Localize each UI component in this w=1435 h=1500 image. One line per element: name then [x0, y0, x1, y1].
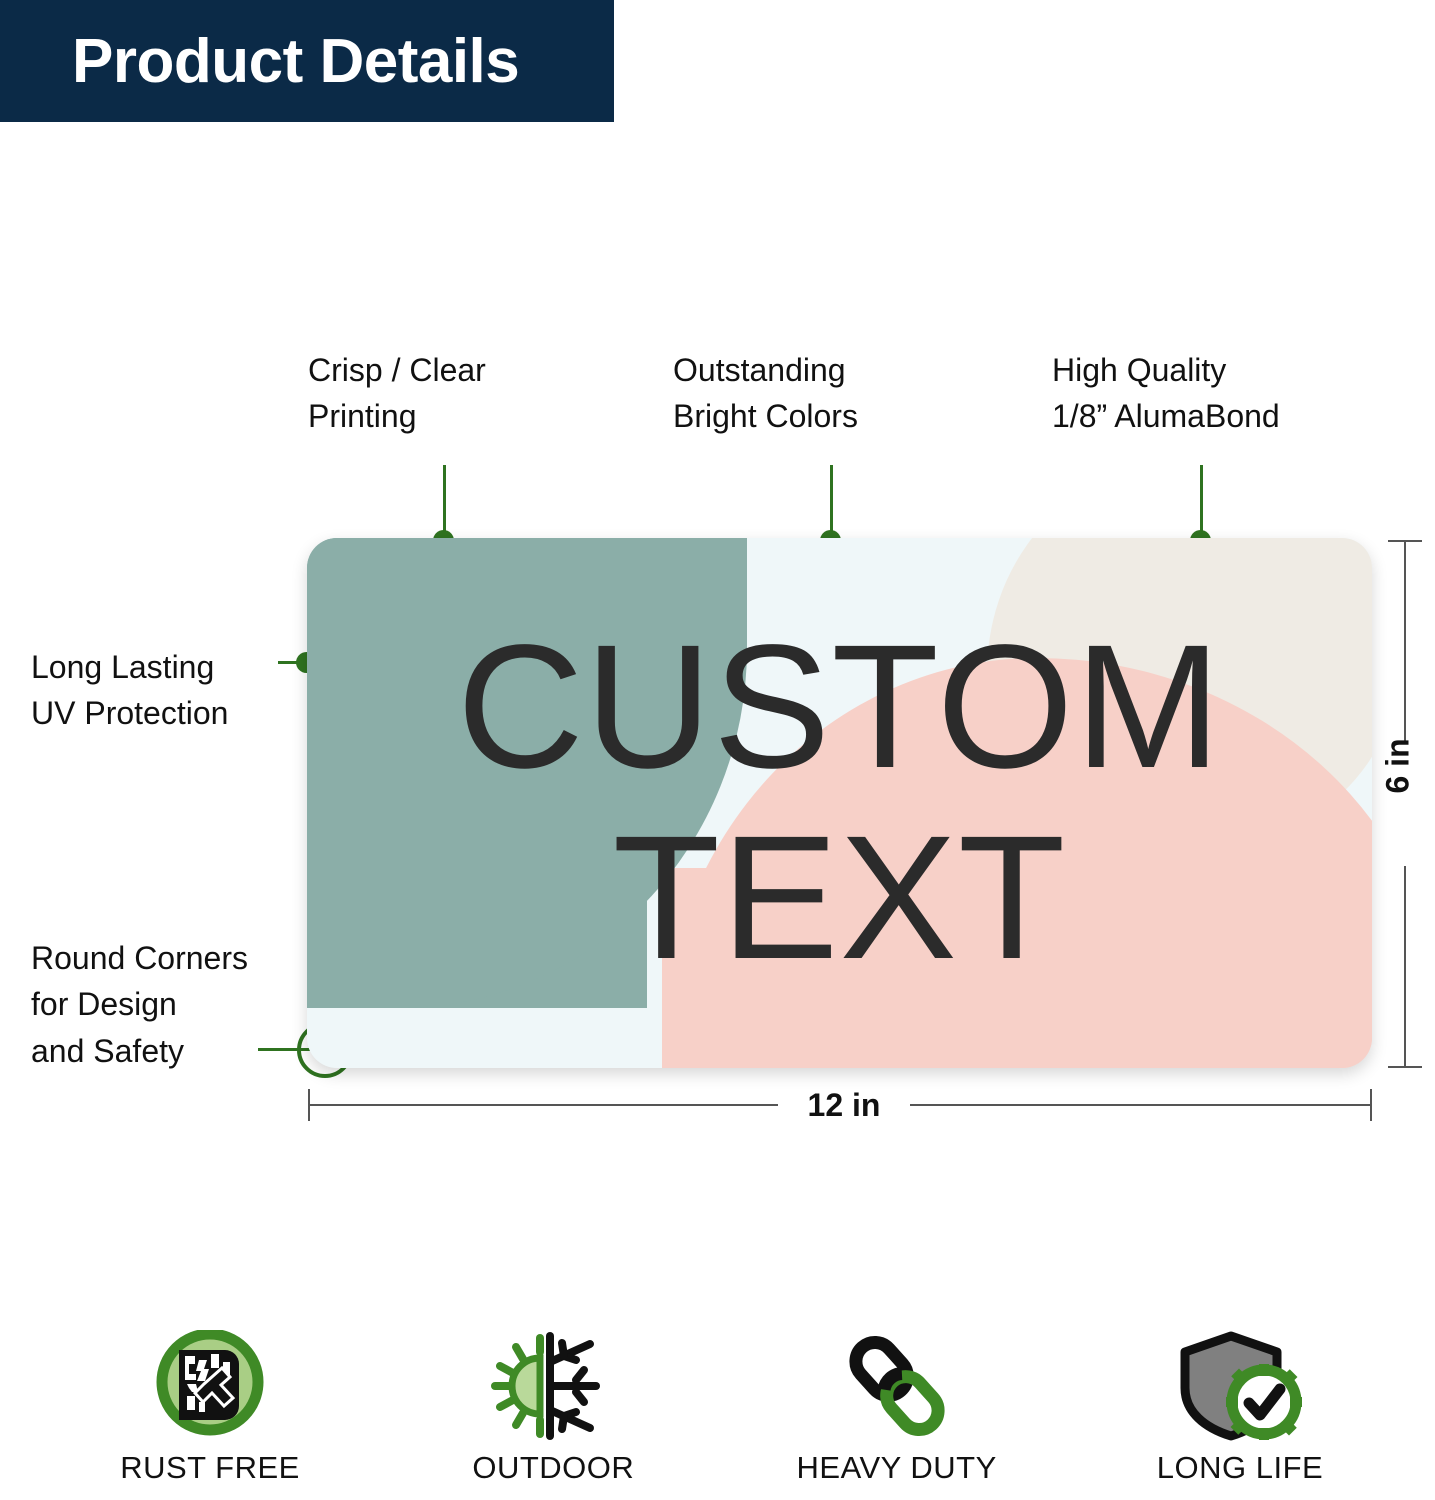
dimension-label-width: 12 in — [778, 1087, 910, 1124]
leader-line-outstanding-bright-colors — [830, 465, 833, 540]
page-title: Product Details — [0, 26, 519, 97]
callout-crisp-clear-printing: Crisp / Clear Printing — [308, 347, 486, 440]
sign-panel: CUSTOM TEXT — [307, 538, 1372, 1068]
dimension-label-height: 6 in — [1380, 754, 1417, 794]
sign-text: CUSTOM TEXT — [307, 538, 1372, 1068]
dimension-cap-vertical-top — [1388, 540, 1422, 542]
sign-preview: CUSTOM TEXT — [307, 538, 1372, 1068]
feature-long-life: LONG LIFE — [1090, 1330, 1390, 1486]
feature-list: RUST FREE — [60, 1330, 1390, 1486]
callout-high-quality-alumabond: High Quality 1/8” AlumaBond — [1052, 347, 1280, 440]
dimension-cap-vertical-bottom — [1388, 1066, 1422, 1068]
dimension-cap-horizontal-left — [308, 1089, 310, 1121]
feature-label-long-life: LONG LIFE — [1157, 1450, 1323, 1486]
callout-round-corners: Round Corners for Design and Safety — [31, 935, 248, 1074]
feature-label-outdoor: OUTDOOR — [472, 1450, 634, 1486]
header-banner: Product Details — [0, 0, 614, 122]
chain-link-icon — [822, 1330, 972, 1442]
sign-text-line-2: TEXT — [613, 806, 1067, 991]
shield-check-icon — [1165, 1330, 1315, 1442]
sun-snowflake-icon — [478, 1330, 628, 1442]
leader-line-high-quality-alumabond — [1200, 465, 1203, 540]
sign-text-line-1: CUSTOM — [457, 615, 1222, 800]
leader-line-crisp-clear-printing — [443, 465, 446, 540]
feature-label-rust-free: RUST FREE — [120, 1450, 300, 1486]
feature-heavy-duty: HEAVY DUTY — [747, 1330, 1047, 1486]
rust-free-icon — [135, 1330, 285, 1442]
callout-long-lasting-uv-protection: Long Lasting UV Protection — [31, 644, 228, 737]
feature-outdoor: OUTDOOR — [403, 1330, 703, 1486]
dimension-cap-horizontal-right — [1370, 1089, 1372, 1121]
feature-rust-free: RUST FREE — [60, 1330, 360, 1486]
feature-label-heavy-duty: HEAVY DUTY — [797, 1450, 997, 1486]
callout-outstanding-bright-colors: Outstanding Bright Colors — [673, 347, 858, 440]
